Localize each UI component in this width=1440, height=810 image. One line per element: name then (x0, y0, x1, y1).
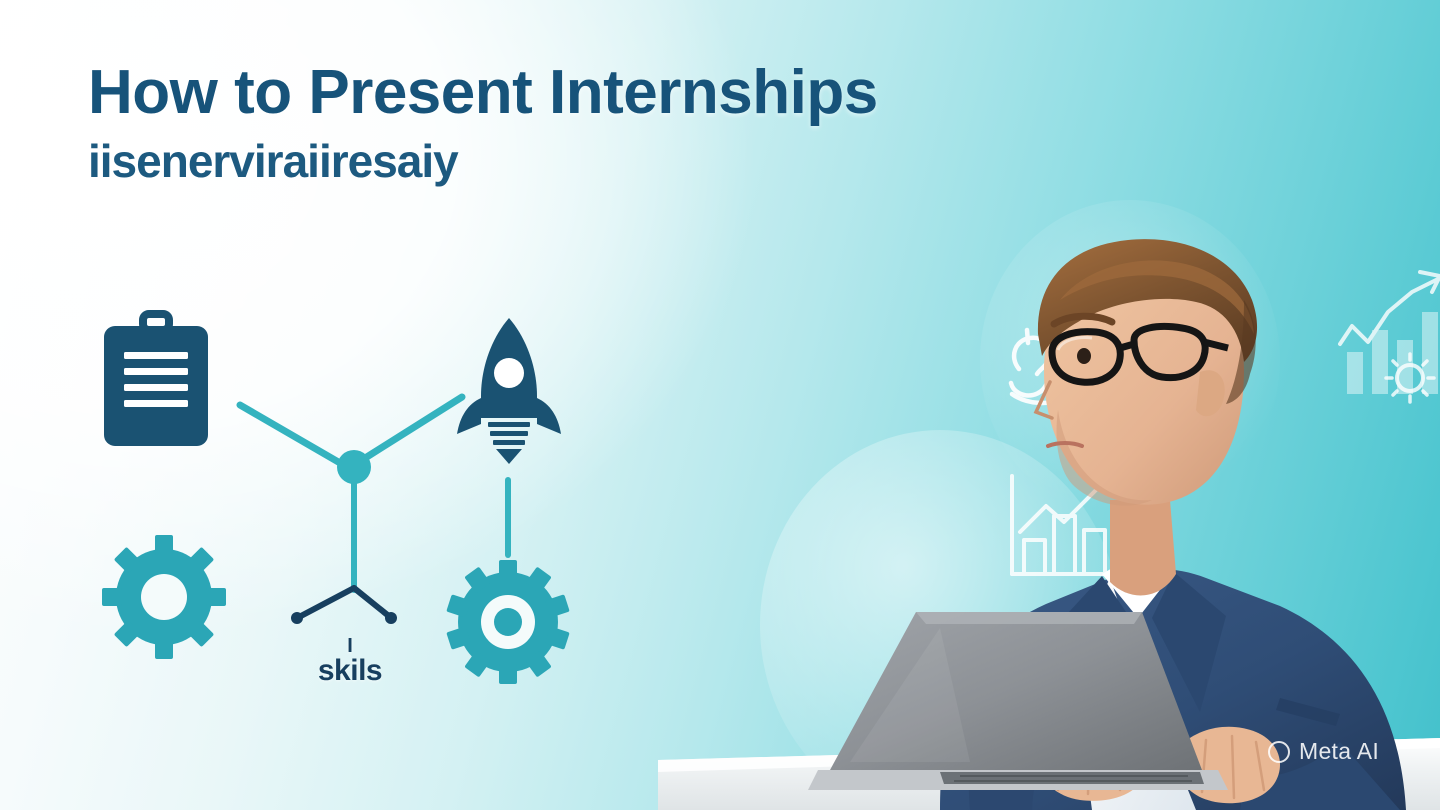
leg-endpoint-right (385, 612, 397, 624)
gear-icon (102, 535, 226, 659)
connector-hub-to-rocket (362, 397, 462, 460)
eye (1077, 348, 1091, 364)
gear-ring-icon (446, 560, 569, 684)
connector-leg-right (354, 588, 390, 617)
connector-leg-left (299, 588, 354, 617)
photo-scene (640, 0, 1440, 810)
connector-briefcase-to-hub (240, 405, 347, 467)
bar-chart-doodle-filled (1340, 272, 1440, 394)
skills-caption-line2: skils (290, 656, 410, 687)
neck (1110, 500, 1176, 595)
skills-caption-line1: I (290, 636, 410, 656)
poster-canvas: How to Present Internships iisenerviraii… (0, 0, 1440, 810)
leg-endpoint-left (291, 612, 303, 624)
briefcase-document-icon (104, 314, 208, 446)
laptop-keyboard (940, 772, 1204, 784)
rocket-icon (457, 318, 561, 464)
skills-caption: I skils (290, 636, 410, 687)
center-node (337, 450, 371, 484)
